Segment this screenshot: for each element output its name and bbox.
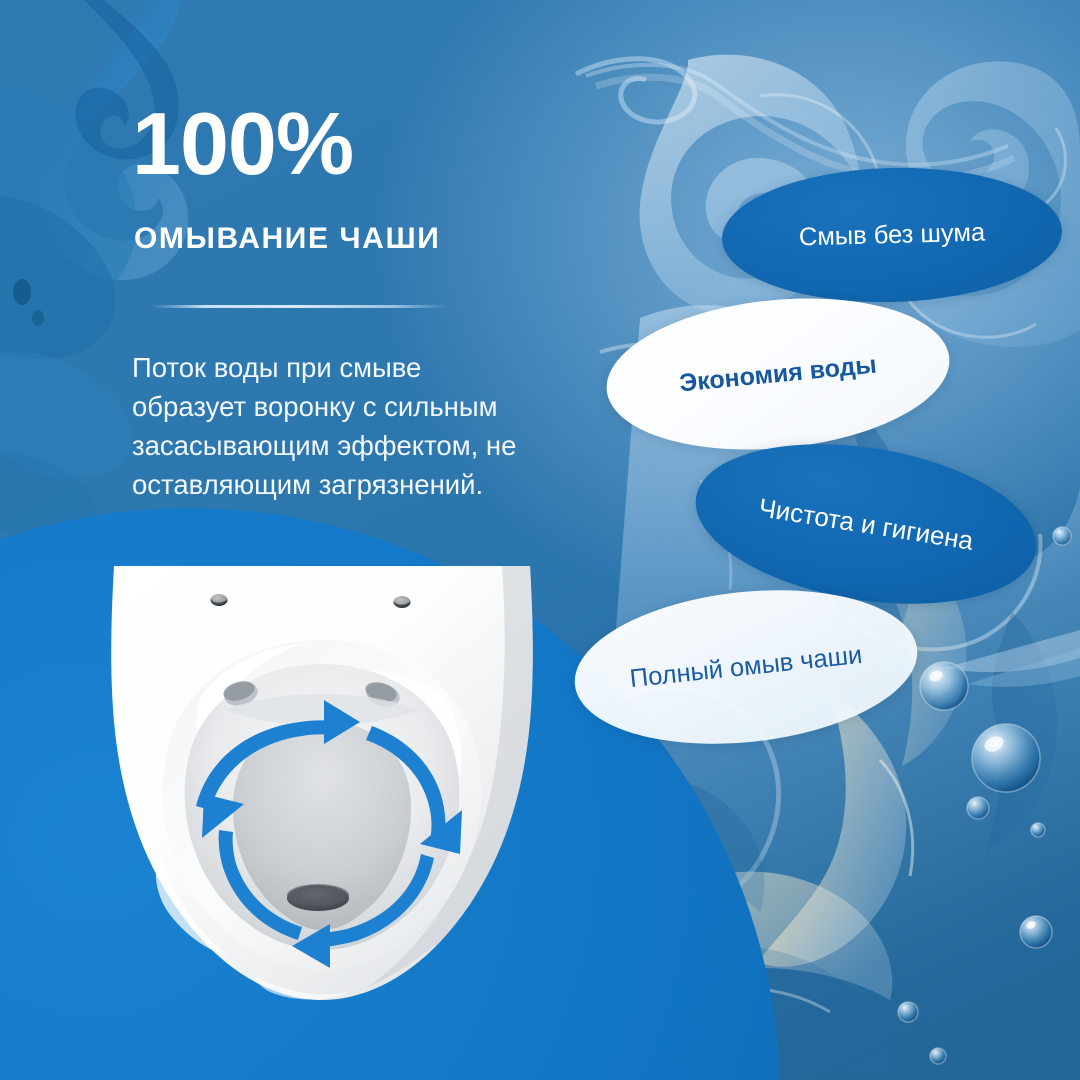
page-title: 100% xyxy=(132,100,353,188)
feature-badge-flush-quiet[interactable]: Смыв без шума xyxy=(720,164,1063,307)
banner-canvas: 100% ОМЫВАНИЕ ЧАШИ Поток воды при смыве … xyxy=(0,0,1080,1080)
droplet-highlights xyxy=(928,669,1037,931)
feature-badge-label: Чистота и гигиена xyxy=(757,492,976,557)
feature-badge-water-saving[interactable]: Экономия воды xyxy=(600,284,957,464)
water-droplets xyxy=(898,527,1071,1064)
feature-badge-full-bowl-rinse[interactable]: Полный омыв чаши xyxy=(567,574,925,759)
feature-badge-label: Полный омыв чаши xyxy=(628,640,863,693)
water-droplet-icon xyxy=(1053,527,1071,545)
water-droplet-icon xyxy=(1031,823,1045,837)
water-droplet-icon xyxy=(920,662,968,710)
toilet-bowl-svg xyxy=(104,552,540,1004)
product-image-toilet-bowl xyxy=(104,552,540,1004)
water-droplet-icon xyxy=(972,724,1040,792)
body-copy: Поток воды при смыве образует воронку с … xyxy=(132,348,532,504)
water-droplet-icon xyxy=(930,1048,946,1064)
feature-badge-label: Смыв без шума xyxy=(799,218,986,252)
water-filament-top xyxy=(576,59,1014,180)
page-subtitle: ОМЫВАНИЕ ЧАШИ xyxy=(134,222,440,255)
water-spike-right xyxy=(944,630,1080,687)
divider xyxy=(152,305,447,308)
feature-badge-label: Экономия воды xyxy=(678,350,878,398)
water-droplet-icon xyxy=(967,797,989,819)
water-droplet-icon xyxy=(1020,916,1052,948)
water-droplet-icon xyxy=(898,1002,918,1022)
